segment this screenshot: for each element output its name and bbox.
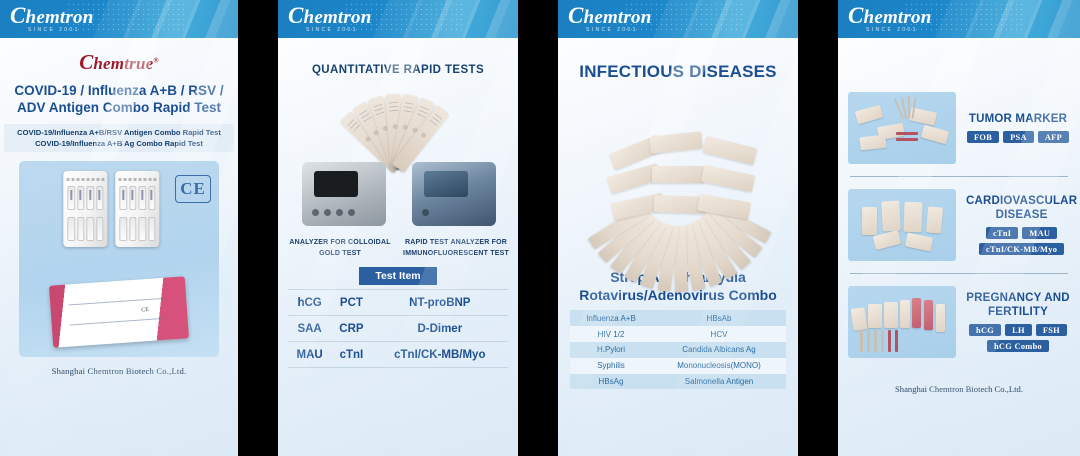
pregnancy-meta: PREGNANCY AND FERTILITY hCG LH FSH hCG C… [966,292,1070,353]
test-cassettes [63,171,159,247]
tag-hcg-combo[interactable]: hCG Combo [987,340,1049,352]
panel-covid-combo: Chemtron SINCE 2001 Chemtrue® COVID-19 /… [0,0,238,456]
table-cell: Salmonella Antigen [652,374,786,390]
table-row: Influenza A+B HBsAb [570,310,786,326]
section-cardiovascular: CARDIOVASCULAR DISEASE cTnI MAU cTnI/CK-… [838,177,1080,273]
test-item-header: Test Item [359,267,437,285]
chemtron-logo: Chemtron SINCE 2001 [10,4,93,33]
table-row: SAA CRP D-Dimer [288,316,508,342]
panel-gap [798,0,838,456]
table-cell: CRP [331,316,371,342]
cardiovascular-photo [848,189,956,261]
table-row: H.Pylori Candida Albicans Ag [570,342,786,358]
tag-ctni[interactable]: cTnI [986,227,1018,239]
test-item-table: hCG PCT NT-proBNP SAA CRP D-Dimer MAU cT… [288,289,508,368]
table-cell: HBsAg [570,374,652,390]
logo-since: SINCE 2001 [586,28,651,33]
tag-ctni-ckmb-myo[interactable]: cTnI/CK-MB/Myo [979,243,1064,255]
section-title: TUMOR MARKER [966,113,1070,127]
table-cell: SAA [288,316,331,342]
logo-word: hemtron [26,7,94,28]
analyzer-screen [424,171,468,197]
table-cell: hCG [288,290,331,316]
test-cassette [652,166,704,183]
test-cassette [701,165,755,192]
logo-word: hemtron [584,7,652,28]
chemtrue-cap: C [79,50,93,74]
logo-since: SINCE 2001 [306,28,371,33]
tag-psa[interactable]: PSA [1003,131,1034,143]
test-cassette [649,131,702,153]
image-strip: Chemtron SINCE 2001 Chemtrue® COVID-19 /… [0,0,1080,456]
section-tumor-marker: TUMOR MARKER FOB PSA AFP [838,80,1080,176]
cardiovascular-meta: CARDIOVASCULAR DISEASE cTnI MAU cTnI/CK-… [966,195,1077,256]
panel3-title: INFECTIOUS DISEASES [558,62,798,82]
chemtron-logo: Chemtron SINCE 2001 [288,4,371,33]
registered-mark-icon: ® [153,56,158,64]
panel1-title: COVID-19 / Influenza A+B / RSV / ADV Ant… [8,83,230,117]
brand-header: Chemtron SINCE 2001 [838,0,1080,38]
panel-gap [238,0,278,456]
tag-fsh[interactable]: FSH [1036,324,1067,336]
panel-quantitative: Chemtron SINCE 2001 QUANTITATIVE RAPID T… [278,0,518,456]
test-cassette [703,136,758,165]
section-title: PREGNANCY AND FERTILITY [966,292,1070,320]
brand-header: Chemtron SINCE 2001 [278,0,518,38]
cardiovascular-tags: cTnI MAU cTnI/CK-MB/Myo [966,227,1077,255]
table-cell: HBsAb [652,310,786,326]
tumor-marker-meta: TUMOR MARKER FOB PSA AFP [966,113,1070,144]
panel1-footer: Shanghai Chemtron Biotech Co.,Ltd. [0,366,238,376]
panel-gap [518,0,558,456]
table-cell: Influenza A+B [570,310,652,326]
caption-colloidal-gold: ANALYZER FOR COLLOIDAL GOLD TEST [282,238,398,259]
tag-afp[interactable]: AFP [1038,131,1069,143]
test-cassette [115,171,159,247]
tag-hcg[interactable]: hCG [969,324,1001,336]
section-pregnancy: PREGNANCY AND FERTILITY hCG LH FSH hCG C… [838,274,1080,370]
test-cassette [63,171,107,247]
table-row: MAU cTnI cTnI/CK-MB/Myo [288,342,508,368]
pregnancy-photo [848,286,956,358]
analyzer-screen [314,171,358,197]
colloidal-gold-analyzer [302,162,386,226]
ce-mark-icon: CE [175,175,211,203]
table-cell: NT-proBNP [372,290,508,316]
test-strip-fan [293,82,503,168]
logo-cap: C [568,3,584,28]
table-row: hCG PCT NT-proBNP [288,290,508,316]
tumor-marker-photo [848,92,956,164]
table-row: Syphilis Mononucleosis(MONO) [570,358,786,374]
chemtrue-word: hemtrue [93,54,153,73]
tag-fob[interactable]: FOB [967,131,999,143]
panel4-footer: Shanghai Chemtron Biotech Co.,Ltd. [838,384,1080,394]
logo-since: SINCE 2001 [28,28,93,33]
table-cell: MAU [288,342,331,368]
table-cell: H.Pylori [570,342,652,358]
table-cell: PCT [331,290,371,316]
chemtron-logo: Chemtron SINCE 2001 [568,4,651,33]
product-box: CE [49,276,189,347]
brand-header: Chemtron SINCE 2001 [0,0,238,38]
immunofluorescent-analyzer [412,162,496,226]
panel-categories: Chemtron SINCE 2001 [838,0,1080,456]
table-cell: Syphilis [570,358,652,374]
table-cell: cTnI/CK-MB/Myo [372,342,508,368]
table-row: HIV 1/2 HCV [570,326,786,342]
tumor-marker-tags: FOB PSA AFP [966,131,1070,143]
table-cell: Candida Albicans Ag [652,342,786,358]
caption-immunofluorescent: RAPID TEST ANALYZER FOR IMMUNOFLUORESCEN… [398,238,514,259]
infectious-product-photo [558,86,798,264]
logo-since: SINCE 2001 [866,28,931,33]
table-cell: HCV [652,326,786,342]
table-cell: HIV 1/2 [570,326,652,342]
chemtron-logo: Chemtron SINCE 2001 [848,4,931,33]
tag-mau[interactable]: MAU [1022,227,1057,239]
panel2-title: QUANTITATIVE RAPID TESTS [278,64,518,76]
table-cell: D-Dimer [372,316,508,342]
logo-word: hemtron [304,7,372,28]
panel1-subtitle: COVID-19/Influenza A+B/RSV Antigen Combo… [4,124,234,152]
table-row: HBsAg Salmonella Antigen [570,374,786,390]
table-cell: cTnI [331,342,371,368]
section-title: CARDIOVASCULAR DISEASE [966,195,1077,223]
pregnancy-tags: hCG LH FSH hCG Combo [966,324,1070,352]
panel1-subtitle-line1: COVID-19/Influenza A+B/RSV Antigen Combo… [8,127,230,138]
logo-cap: C [848,3,864,28]
logo-cap: C [10,3,26,28]
logo-word: hemtron [864,7,932,28]
logo-cap: C [288,3,304,28]
panel-infectious: Chemtron SINCE 2001 INFECTIOUS DISEASES [558,0,798,456]
infectious-disease-table: Influenza A+B HBsAb HIV 1/2 HCV H.Pylori… [570,310,786,389]
chemtrue-logo: Chemtrue® [0,50,238,75]
product-photo: CE CE [19,161,219,357]
panel1-subtitle-line2: COVID-19/Influenza A+B Ag Combo Rapid Te… [8,138,230,149]
analyzer-photo [278,78,518,238]
brand-header: Chemtron SINCE 2001 [558,0,798,38]
analyzer-captions: ANALYZER FOR COLLOIDAL GOLD TEST RAPID T… [282,238,514,259]
table-cell: Mononucleosis(MONO) [652,358,786,374]
tag-lh[interactable]: LH [1005,324,1032,336]
